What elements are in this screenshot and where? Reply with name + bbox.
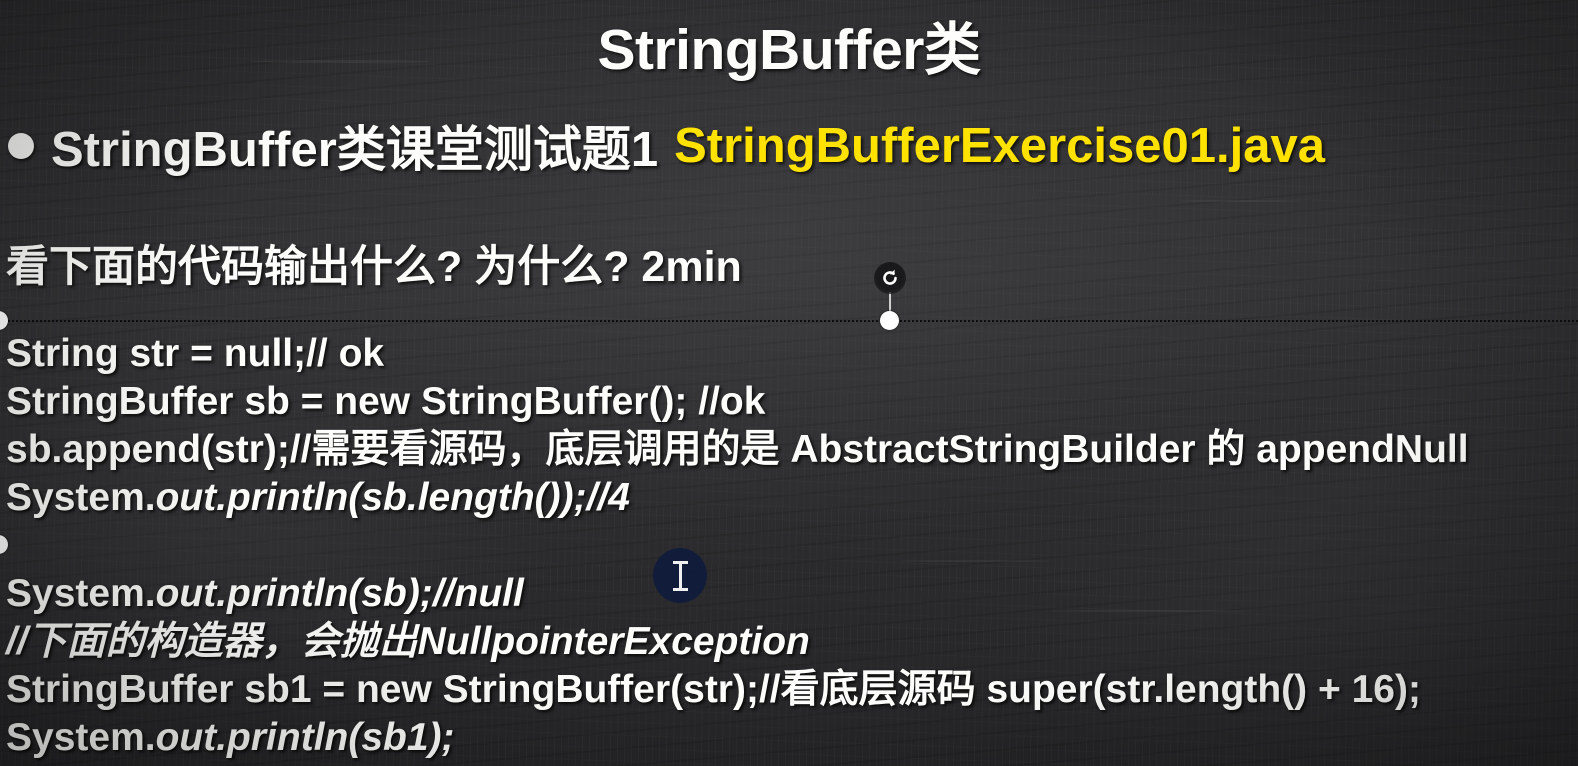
- heading-label: StringBuffer类课堂测试题1: [51, 110, 658, 181]
- code-text: System.: [6, 716, 156, 759]
- code-text-italic: out.println(sb1);: [156, 716, 455, 759]
- code-line: String str = null;// ok: [6, 330, 1578, 378]
- code-text: sb.append(str);//需要看源码，底层调用的是 AbstractSt…: [6, 428, 1469, 471]
- ibeam-glyph: [679, 561, 682, 591]
- text-ibeam-cursor-icon: [653, 548, 707, 603]
- selection-border: [0, 320, 1578, 322]
- code-text-italic: out.println(sb);//null: [156, 572, 524, 615]
- rotate-arrow-glyph: [880, 268, 900, 288]
- code-text: StringBuffer sb = new StringBuffer(); //…: [6, 380, 765, 423]
- resize-handle-top[interactable]: [880, 311, 899, 330]
- code-text: String str = null;// ok: [6, 332, 384, 375]
- code-line: StringBuffer sb = new StringBuffer(); //…: [6, 378, 1578, 426]
- code-text: System.: [6, 572, 156, 615]
- chalk-scratch: [1180, 200, 1300, 202]
- code-line-blank: [6, 522, 1578, 570]
- heading-line: StringBuffer类课堂测试题1 StringBufferExercise…: [8, 110, 1325, 181]
- code-text-italic: out.println(sb.length());//4: [156, 476, 630, 519]
- bullet-dot-icon: [8, 133, 34, 159]
- code-line: //下面的构造器，会抛出NullpointerException: [6, 618, 1578, 666]
- rotate-handle-icon[interactable]: [874, 262, 906, 294]
- slide-canvas: StringBuffer类 StringBuffer类课堂测试题1 String…: [0, 0, 1578, 766]
- resize-handle-top-left[interactable]: [0, 311, 8, 330]
- code-line: System.out.println(sb);//null: [6, 570, 1578, 618]
- code-line: System.out.println(sb.length());//4: [6, 474, 1578, 522]
- code-block[interactable]: String str = null;// ok StringBuffer sb …: [6, 330, 1578, 762]
- code-line: System.out.println(sb1);: [6, 714, 1578, 762]
- prompt-text: 看下面的代码输出什么? 为什么? 2min: [6, 232, 742, 294]
- slide-title: StringBuffer类: [0, 4, 1578, 86]
- code-text: System.: [6, 476, 156, 519]
- code-text: StringBuffer sb1 = new StringBuffer(str)…: [6, 668, 1421, 711]
- heading-filename-label: StringBufferExercise01.java: [674, 118, 1325, 174]
- code-line: StringBuffer sb1 = new StringBuffer(str)…: [6, 666, 1578, 714]
- code-text-italic: //下面的构造器，会抛出NullpointerException: [6, 620, 810, 663]
- code-line: sb.append(str);//需要看源码，底层调用的是 AbstractSt…: [6, 426, 1578, 474]
